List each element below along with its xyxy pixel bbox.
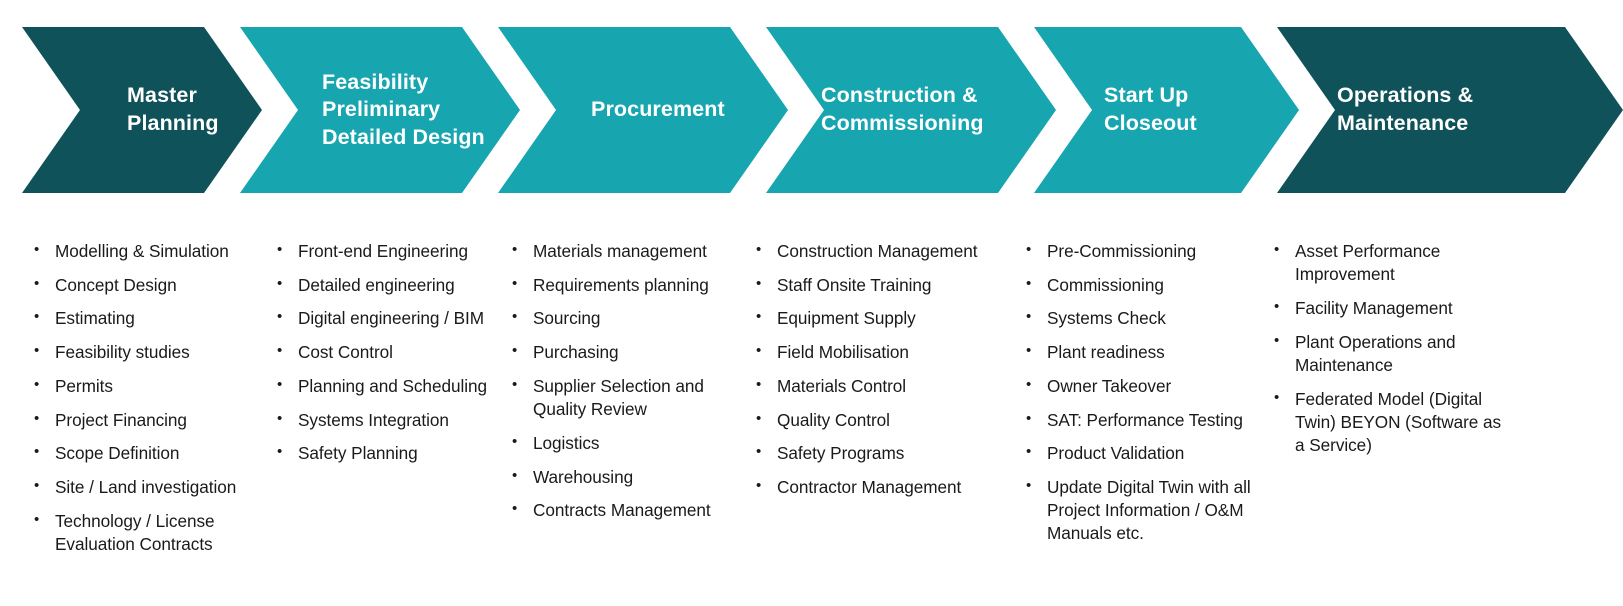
- list-item: Modelling & Simulation: [30, 240, 268, 263]
- list-item: Logistics: [508, 432, 736, 455]
- list-item: Sourcing: [508, 307, 736, 330]
- chevron-phase-6-label: Operations & Maintenance: [1337, 82, 1473, 137]
- list-item: Materials Control: [752, 375, 1002, 398]
- chevron-phase-3[interactable]: Procurement: [498, 27, 788, 193]
- list-item: Plant readiness: [1022, 341, 1264, 364]
- list-item: Quality Control: [752, 409, 1002, 432]
- list-item: Requirements planning: [508, 274, 736, 297]
- list-item: Owner Takeover: [1022, 375, 1264, 398]
- list-item: Scope Definition: [30, 442, 268, 465]
- phase-detail-columns: Modelling & Simulation Concept Design Es…: [0, 240, 1623, 606]
- list-item: Field Mobilisation: [752, 341, 1002, 364]
- chevron-phase-1-label: Master Planning: [127, 82, 219, 137]
- list-item: Safety Programs: [752, 442, 1002, 465]
- list-item: Product Validation: [1022, 442, 1264, 465]
- list-item: Purchasing: [508, 341, 736, 364]
- chevron-phase-5[interactable]: Start Up Closeout: [1034, 27, 1299, 193]
- list-item: Asset Performance Improvement: [1270, 240, 1510, 286]
- list-item: Feasibility studies: [30, 341, 268, 364]
- bullet-list-3: Materials management Requirements planni…: [508, 240, 736, 522]
- list-item: Estimating: [30, 307, 268, 330]
- detail-column-3: Materials management Requirements planni…: [508, 240, 736, 533]
- list-item: Detailed engineering: [273, 274, 491, 297]
- bullet-list-5: Pre-Commissioning Commissioning Systems …: [1022, 240, 1264, 546]
- list-item: Cost Control: [273, 341, 491, 364]
- list-item: Concept Design: [30, 274, 268, 297]
- bullet-list-1: Modelling & Simulation Concept Design Es…: [30, 240, 268, 556]
- chevron-phase-4-label: Construction & Commissioning: [821, 82, 984, 137]
- chevron-band: Master Planning Feasibility Preliminary …: [0, 27, 1623, 193]
- list-item: Technology / License Evaluation Contract…: [30, 510, 268, 556]
- list-item: Front-end Engineering: [273, 240, 491, 263]
- list-item: Federated Model (Digital Twin) BEYON (So…: [1270, 388, 1510, 458]
- list-item: Materials management: [508, 240, 736, 263]
- list-item: Contracts Management: [508, 499, 736, 522]
- list-item: Equipment Supply: [752, 307, 1002, 330]
- detail-column-2: Front-end Engineering Detailed engineeri…: [273, 240, 491, 476]
- chevron-phase-2[interactable]: Feasibility Preliminary Detailed Design: [240, 27, 520, 193]
- chevron-phase-1[interactable]: Master Planning: [22, 27, 262, 193]
- detail-column-5: Pre-Commissioning Commissioning Systems …: [1022, 240, 1264, 556]
- list-item: Planning and Scheduling: [273, 375, 491, 398]
- bullet-list-2: Front-end Engineering Detailed engineeri…: [273, 240, 491, 466]
- detail-column-1: Modelling & Simulation Concept Design Es…: [30, 240, 268, 567]
- list-item: SAT: Performance Testing: [1022, 409, 1264, 432]
- list-item: Site / Land investigation: [30, 476, 268, 499]
- list-item: Contractor Management: [752, 476, 1002, 499]
- bullet-list-4: Construction Management Staff Onsite Tra…: [752, 240, 1002, 499]
- chevron-phase-2-label: Feasibility Preliminary Detailed Design: [322, 69, 485, 152]
- list-item: Commissioning: [1022, 274, 1264, 297]
- list-item: Systems Check: [1022, 307, 1264, 330]
- detail-column-4: Construction Management Staff Onsite Tra…: [752, 240, 1002, 510]
- list-item: Systems Integration: [273, 409, 491, 432]
- list-item: Staff Onsite Training: [752, 274, 1002, 297]
- list-item: Pre-Commissioning: [1022, 240, 1264, 263]
- list-item: Facility Management: [1270, 297, 1510, 320]
- list-item: Digital engineering / BIM: [273, 307, 491, 330]
- list-item: Permits: [30, 375, 268, 398]
- list-item: Supplier Selection and Quality Review: [508, 375, 736, 421]
- list-item: Construction Management: [752, 240, 1002, 263]
- list-item: Update Digital Twin with all Project Inf…: [1022, 476, 1264, 546]
- list-item: Project Financing: [30, 409, 268, 432]
- list-item: Safety Planning: [273, 442, 491, 465]
- chevron-phase-3-label: Procurement: [591, 96, 725, 124]
- chevron-phase-5-label: Start Up Closeout: [1104, 82, 1197, 137]
- chevron-phase-6[interactable]: Operations & Maintenance: [1277, 27, 1623, 193]
- list-item: Plant Operations and Maintenance: [1270, 331, 1510, 377]
- bullet-list-6: Asset Performance Improvement Facility M…: [1270, 240, 1510, 457]
- detail-column-6: Asset Performance Improvement Facility M…: [1270, 240, 1510, 468]
- process-flow-diagram: Master Planning Feasibility Preliminary …: [0, 0, 1623, 606]
- list-item: Warehousing: [508, 466, 736, 489]
- chevron-phase-4[interactable]: Construction & Commissioning: [766, 27, 1056, 193]
